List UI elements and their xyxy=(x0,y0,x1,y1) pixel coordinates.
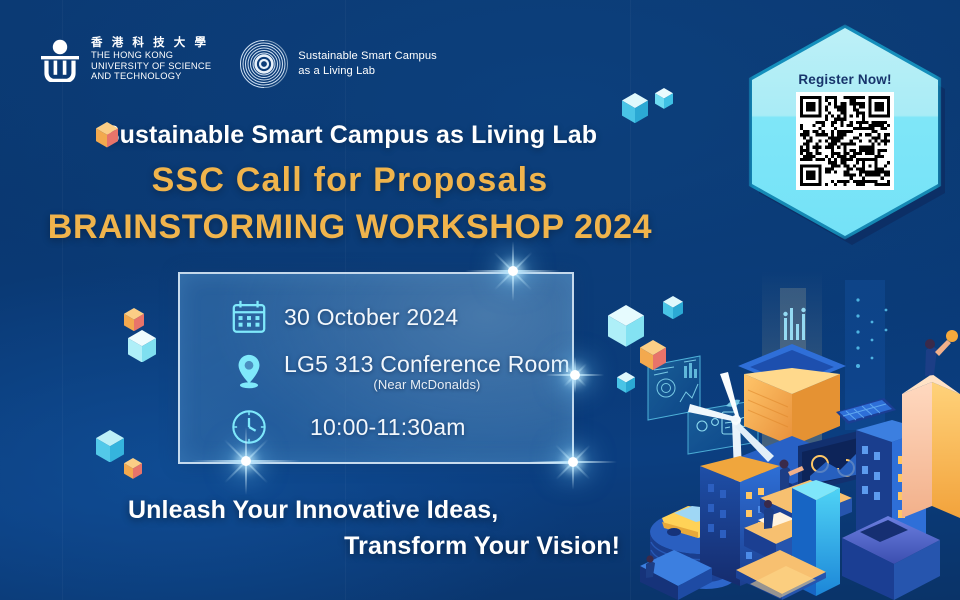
hkust-english-line-3: AND TECHNOLOGY xyxy=(91,71,211,82)
ssc-logo-text: Sustainable Smart Campus as a Living Lab xyxy=(298,49,437,79)
cube-cyan-right-low xyxy=(617,372,635,393)
cube-cyan-upper-right-2 xyxy=(655,88,673,109)
cube-orange-title xyxy=(96,122,118,148)
hkust-emblem-icon xyxy=(38,38,82,82)
tagline-line-1: Unleash Your Innovative Ideas, xyxy=(128,493,648,529)
ssc-logo-line-1: Sustainable Smart Campus xyxy=(298,49,437,64)
isometric-smart-city-illustration xyxy=(640,270,960,600)
registration-hexagon[interactable]: Register Now! xyxy=(752,28,938,236)
event-location-subtext: (Near McDonalds) xyxy=(284,377,570,392)
registration-qr-code[interactable] xyxy=(796,92,894,190)
concentric-rings-icon xyxy=(239,39,289,89)
cube-orange-right xyxy=(640,340,666,370)
hkust-english-line-2: UNIVERSITY OF SCIENCE xyxy=(91,61,211,72)
ssc-living-lab-logo: Sustainable Smart Campus as a Living Lab xyxy=(239,39,437,89)
poster-secondary-title: BRAINSTORMING WORKSHOP 2024 xyxy=(0,209,700,246)
cube-cyan-left-2 xyxy=(96,430,124,462)
clock-icon xyxy=(228,406,270,448)
tagline-block: Unleash Your Innovative Ideas, Transform… xyxy=(128,493,648,564)
ssc-logo-line-2: as a Living Lab xyxy=(298,64,437,79)
cube-cyan-right-sm xyxy=(663,296,683,319)
hkust-english-line-1: THE HONG KONG xyxy=(91,50,211,61)
poster-canvas: 香 港 科 技 大 學 THE HONG KONG UNIVERSITY OF … xyxy=(0,0,960,600)
event-date-row: 30 October 2024 xyxy=(180,296,572,338)
cube-cyan-left-1 xyxy=(128,330,156,362)
cube-orange-left-1 xyxy=(124,308,144,331)
event-time-row: 10:00-11:30am xyxy=(180,406,572,448)
calendar-icon xyxy=(228,296,270,338)
event-time-text: 10:00-11:30am xyxy=(310,414,466,441)
poster-main-title: SSC Call for Proposals xyxy=(0,162,700,199)
hkust-logo-text: 香 港 科 技 大 學 THE HONG KONG UNIVERSITY OF … xyxy=(91,36,211,82)
hkust-chinese-name: 香 港 科 技 大 學 xyxy=(91,37,211,50)
event-location-text: LG5 313 Conference Room xyxy=(284,351,570,378)
cube-cyan-right-big xyxy=(608,305,644,347)
hkust-logo: 香 港 科 技 大 學 THE HONG KONG UNIVERSITY OF … xyxy=(38,36,211,82)
event-details-box: 30 October 2024 LG5 313 Conference Room … xyxy=(178,272,574,464)
location-pin-icon xyxy=(228,350,270,392)
cube-cyan-upper-right-1 xyxy=(622,93,648,123)
header-logos: 香 港 科 技 大 學 THE HONG KONG UNIVERSITY OF … xyxy=(38,36,437,89)
tagline-line-2: Transform Your Vision! xyxy=(128,529,648,565)
background-seam xyxy=(62,0,63,600)
event-date-text: 30 October 2024 xyxy=(284,304,458,331)
cube-orange-left-2 xyxy=(124,458,142,479)
register-now-label: Register Now! xyxy=(752,72,938,87)
event-location-row: LG5 313 Conference Room (Near McDonalds) xyxy=(180,350,572,392)
